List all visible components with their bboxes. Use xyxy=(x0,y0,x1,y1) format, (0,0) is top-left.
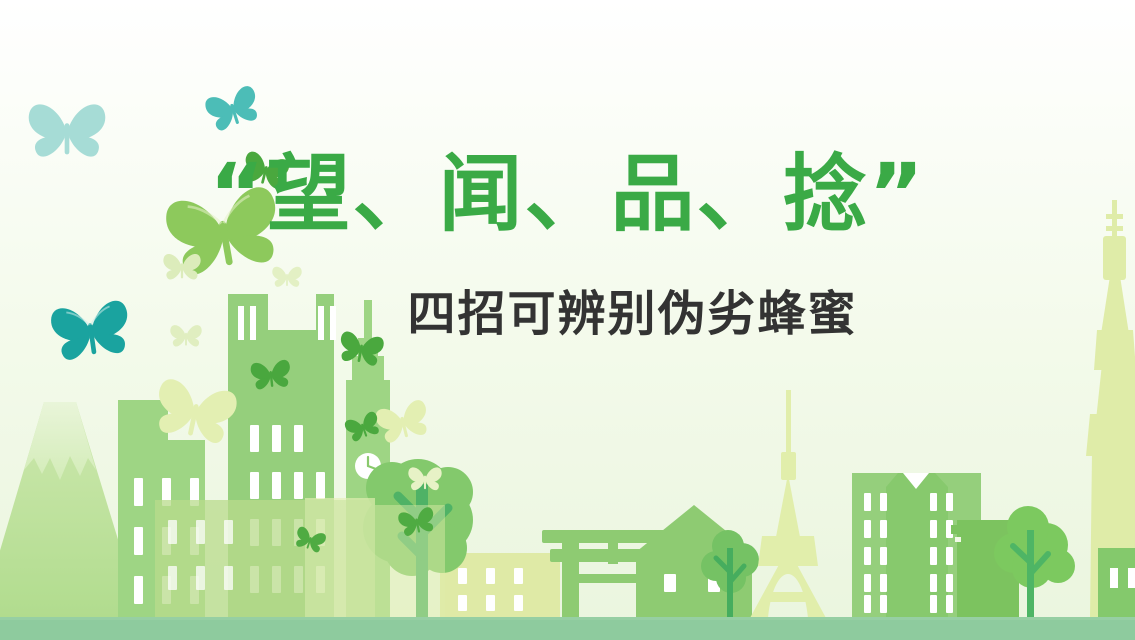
page-subtitle: 四招可辨别伪劣蜂蜜 xyxy=(0,288,1135,342)
poster-canvas: “望、闻、品、捻” 四招可辨别伪劣蜂蜜 xyxy=(0,0,1135,640)
ground-strip xyxy=(0,617,1135,640)
skytree-base-building xyxy=(1098,548,1135,618)
subtitle-block: 四招可辨别伪劣蜂蜜 xyxy=(0,288,1135,342)
